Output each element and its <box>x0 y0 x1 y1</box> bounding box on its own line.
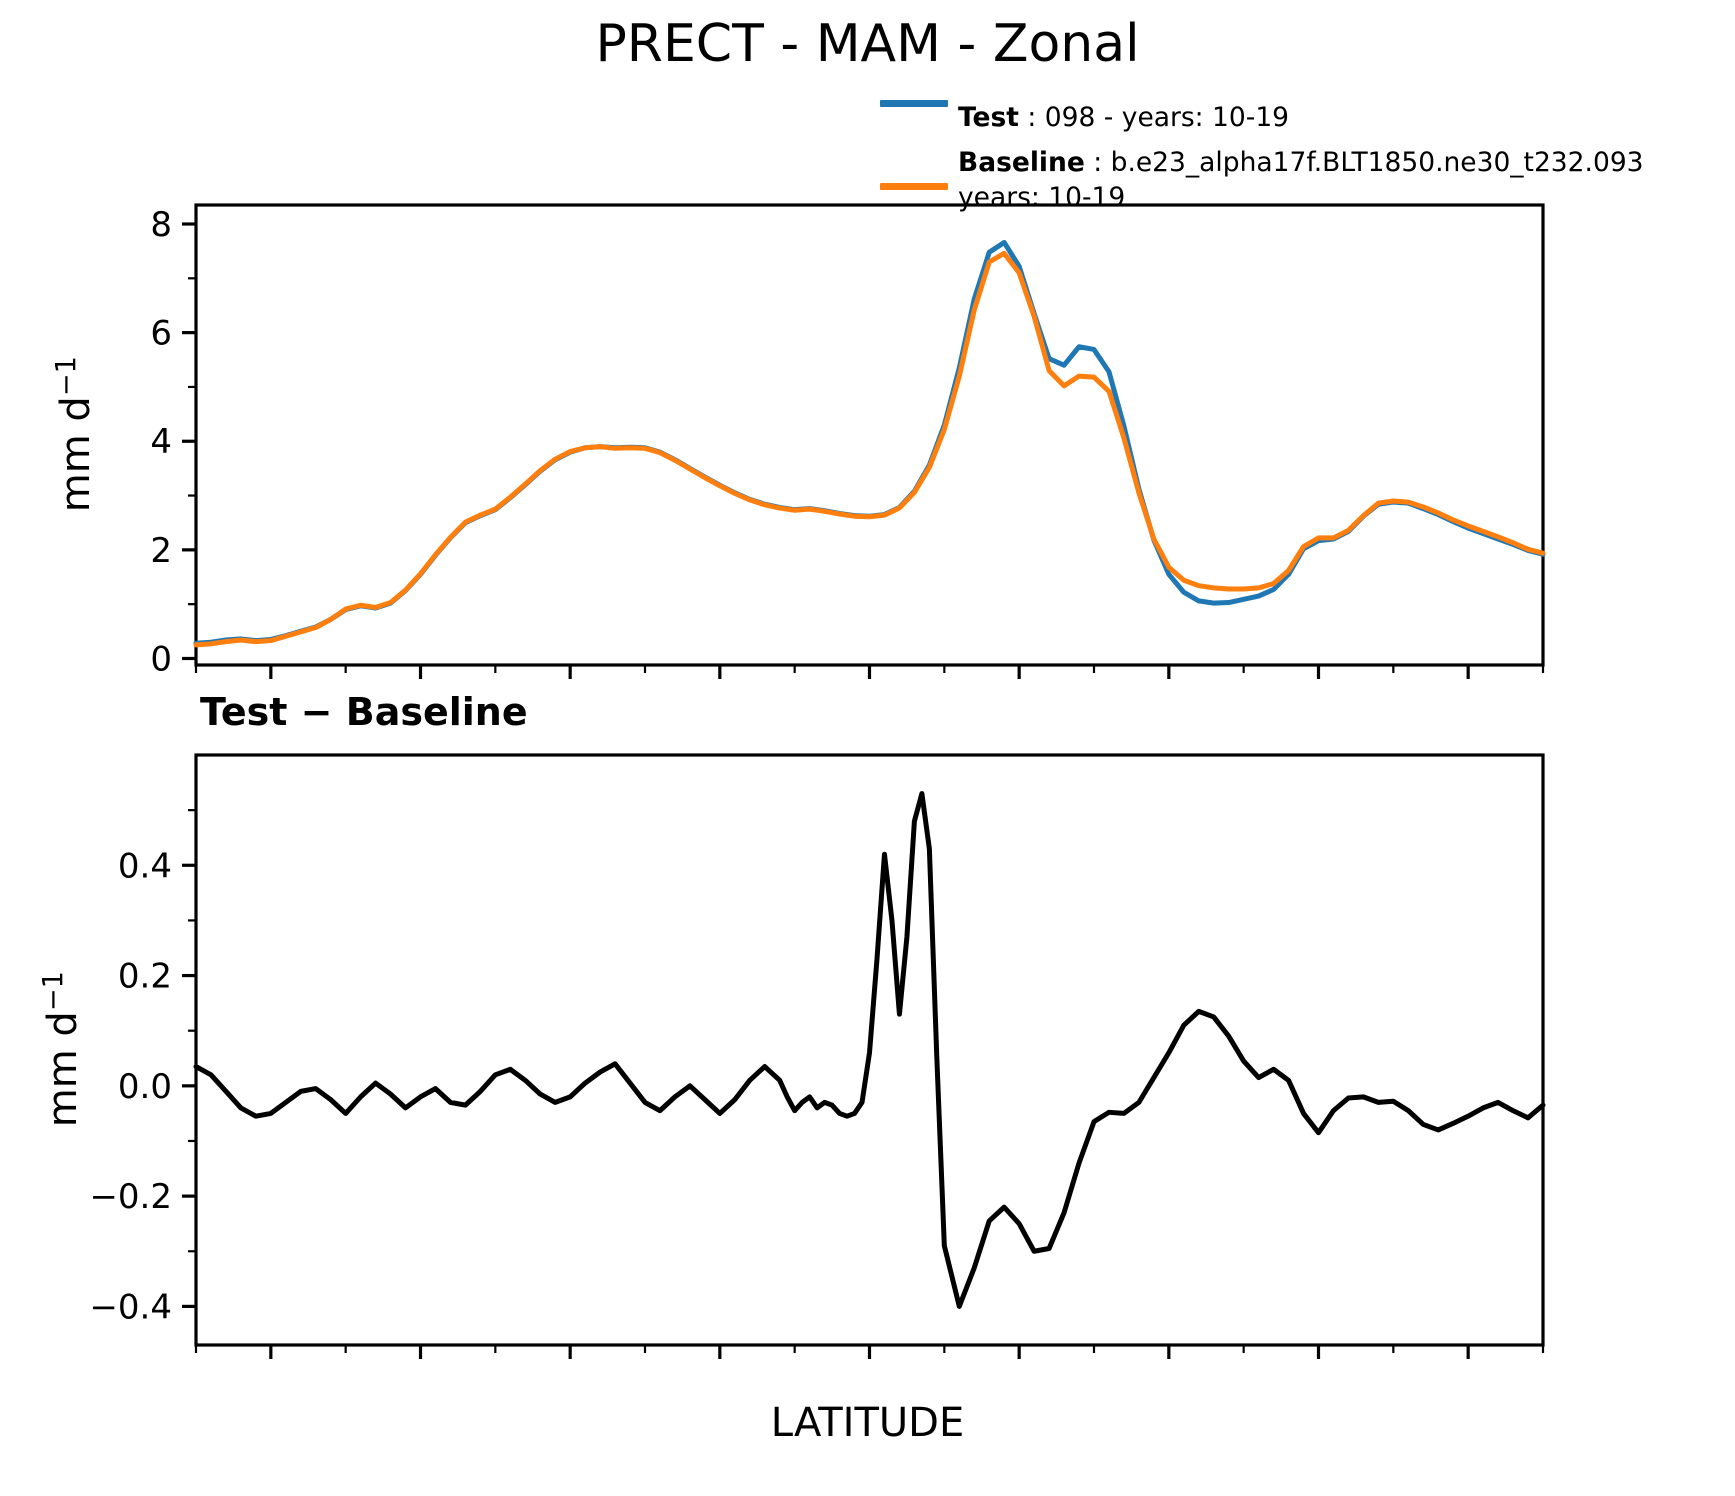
y-axis-label-top: mm d−1 <box>51 284 99 584</box>
legend-value-baseline: b.e23_alpha17f.BLT1850.ne30_t232.093 <box>1111 147 1644 178</box>
svg-text:0: 0 <box>150 639 172 679</box>
legend-bold-baseline: Baseline <box>958 147 1085 178</box>
svg-text:−0.2: −0.2 <box>89 1177 172 1217</box>
legend-sep-baseline: : <box>1085 147 1111 178</box>
legend-value-test: 098 - years: 10-19 <box>1045 102 1289 133</box>
svg-text:0.4: 0.4 <box>118 846 172 886</box>
legend-swatch-test <box>880 100 948 107</box>
series-test <box>196 242 1543 643</box>
svg-text:0.2: 0.2 <box>118 957 172 997</box>
series-test-baseline <box>196 794 1543 1307</box>
svg-text:−0.4: −0.4 <box>89 1287 172 1327</box>
legend-swatch-test-wrap <box>880 100 958 107</box>
y-axis-label-top-exp: −1 <box>51 356 82 396</box>
legend-swatch-baseline <box>880 183 948 190</box>
svg-text:4: 4 <box>150 422 172 462</box>
y-axis-label-bottom-exp: −1 <box>38 971 69 1011</box>
legend-entry-test: Test : 098 - years: 10-19 <box>880 100 1680 135</box>
legend-swatch-baseline-wrap <box>880 145 958 190</box>
legend-label-test: Test : 098 - years: 10-19 <box>958 100 1289 135</box>
x-axis-label: LATITUDE <box>0 1400 1735 1446</box>
svg-text:6: 6 <box>150 314 172 354</box>
difference-panel-heading: Test − Baseline <box>200 690 528 734</box>
y-axis-label-top-text: mm d <box>53 396 99 512</box>
legend-sep-test: : <box>1019 102 1045 133</box>
svg-text:8: 8 <box>150 205 172 245</box>
svg-text:2: 2 <box>150 531 172 571</box>
difference-panel: −80−60−40−20020406080−0.4−0.20.00.20.4 <box>0 750 1735 1370</box>
page-title: PRECT - MAM - Zonal <box>0 14 1735 74</box>
svg-text:0.0: 0.0 <box>118 1067 172 1107</box>
y-axis-label-bottom-text: mm d <box>40 1011 86 1127</box>
zonal-mean-svg: 02468 <box>0 190 1735 690</box>
legend-bold-test: Test <box>958 102 1019 133</box>
figure-root: PRECT - MAM - Zonal Test : 098 - years: … <box>0 0 1735 1496</box>
zonal-mean-panel: 02468 <box>0 190 1735 690</box>
y-axis-label-bottom: mm d−1 <box>38 899 86 1199</box>
difference-svg: −80−60−40−20020406080−0.4−0.20.00.20.4 <box>0 750 1735 1370</box>
series-baseline <box>196 253 1543 645</box>
